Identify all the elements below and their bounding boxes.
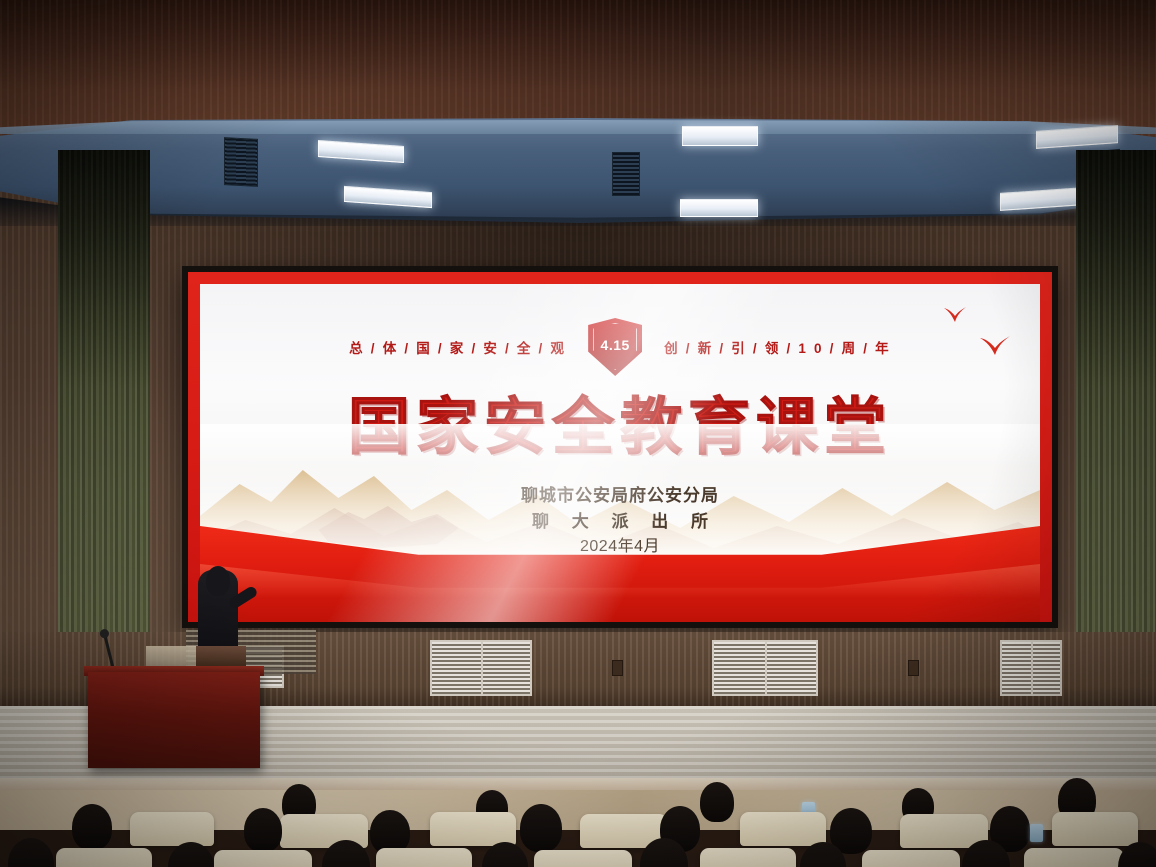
auditorium-seat [1024,848,1124,867]
led-display-frame: 总 / 体 / 国 / 家 / 安 / 全 / 观 4.15 创 / 新 / 引… [188,272,1052,622]
slogan-right: 创 / 新 / 引 / 领 / 1 0 / 周 / 年 [664,337,891,357]
audience-head [72,804,112,850]
ceiling-light-panel [682,126,758,146]
wall-vent-icon [712,640,818,696]
auditorium-seat [700,848,796,867]
audience-head [520,804,562,852]
auditorium-seat [862,850,960,867]
wall-vent-icon [430,640,532,696]
slogan-left: 总 / 体 / 国 / 家 / 安 / 全 / 观 [349,337,566,357]
ceiling-vent-icon [612,152,640,196]
auditorium-seat [430,812,516,846]
wall-vent-icon [1000,640,1062,696]
podium-equipment [196,646,246,668]
auditorium-seat [130,812,214,846]
wooden-podium [88,672,260,768]
slide-header-row: 总 / 体 / 国 / 家 / 安 / 全 / 观 4.15 创 / 新 / 引… [200,326,1040,368]
auditorium-seat [56,848,152,867]
subtitle-line-2: 聊 大 派 出 所 [200,509,1040,535]
soffit-lip [0,120,1156,134]
auditorium-seat [376,848,472,867]
audience-phone-screen [1030,824,1043,842]
subtitle-line-1: 聊城市公安局府公安分局 [200,483,1040,509]
wall-switch[interactable] [908,660,919,676]
auditorium-seat [214,850,312,867]
auditorium-seat [740,812,826,846]
audience-head [8,838,54,867]
led-display-bezel: 总 / 体 / 国 / 家 / 安 / 全 / 观 4.15 创 / 新 / 引… [182,266,1058,628]
audience-area [0,762,1156,867]
shield-badge-number: 4.15 [601,337,630,353]
stage-curtain-left [58,150,150,680]
auditorium-seat [1052,812,1138,846]
ceiling-vent-icon [224,137,258,187]
shield-badge-icon: 4.15 [588,318,642,376]
presentation-slide: 总 / 体 / 国 / 家 / 安 / 全 / 观 4.15 创 / 新 / 引… [200,284,1040,622]
audience-head [244,808,282,852]
flying-bird-icon [942,304,968,326]
auditorium-seat [534,850,632,867]
flying-bird-icon [978,332,1012,360]
presenter-head [206,566,230,596]
wall-switch[interactable] [612,660,623,676]
stage-curtain-right [1076,150,1156,680]
ceiling-light-panel [680,199,758,217]
audience-head [700,782,734,822]
auditorium-scene: 总 / 体 / 国 / 家 / 安 / 全 / 观 4.15 创 / 新 / 引… [0,0,1156,867]
